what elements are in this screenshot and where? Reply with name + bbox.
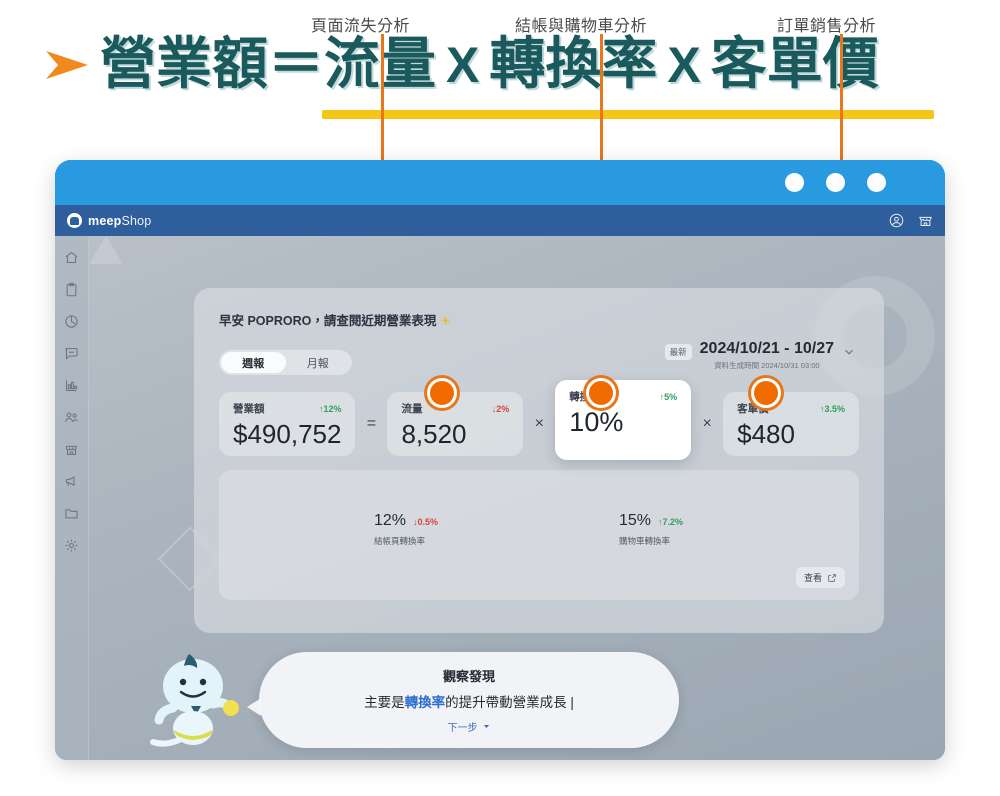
sidebar: [55, 236, 89, 760]
sub-metric-delta-checkout: ↓0.5%: [413, 517, 438, 527]
brand-name-light: Shop: [121, 214, 151, 228]
sub-metric-delta-cart: ↑7.2%: [658, 517, 683, 527]
megaphone-icon[interactable]: [64, 474, 79, 489]
marker-aov[interactable]: [751, 378, 781, 408]
bubble-body: 主要是轉換率的提升帶動營業成長 |: [364, 691, 574, 711]
greeting-message: 早安 POPRORO，請查閱近期營業表現: [219, 314, 436, 328]
brand-name: meepShop: [88, 214, 151, 228]
app-header: meepShop: [55, 205, 945, 236]
chevron-down-icon[interactable]: [842, 345, 856, 359]
next-step-label: 下一步: [448, 719, 478, 734]
home-icon[interactable]: [64, 250, 79, 265]
view-detail-button[interactable]: 查看: [796, 567, 845, 588]
brand-name-bold: meep: [88, 214, 121, 228]
kpi-value-revenue: $490,752: [233, 419, 341, 450]
browser-window: meepShop: [55, 160, 945, 760]
date-range-picker[interactable]: 最新 2024/10/21 - 10/27 資料生成時間 2024/10/31 …: [665, 340, 856, 371]
greeting-text: 早安 POPRORO，請查閱近期營業表現 ☀: [219, 310, 451, 329]
headline-operator-1: X: [440, 36, 485, 94]
arrow-right-icon: [44, 45, 90, 85]
headline-part-conversion: 轉換率: [489, 37, 657, 93]
headline-part-revenue-traffic: 營業額＝流量: [100, 37, 436, 93]
sub-metrics-panel: 12% ↓0.5% 結帳頁轉換率 15% ↑7.2% 購物車轉換率: [219, 470, 859, 600]
tab-weekly-report[interactable]: 週報: [221, 352, 286, 373]
kpi-card-revenue[interactable]: 營業額 ↑12% $490,752: [219, 392, 355, 456]
kpi-value-aov: $480: [737, 419, 845, 450]
kpi-label-revenue: 營業額: [233, 401, 265, 416]
kpi-delta-conversion: ↑5%: [660, 392, 678, 402]
users-icon[interactable]: [64, 410, 79, 425]
header-actions: [889, 213, 933, 228]
next-step-button[interactable]: 下一步: [448, 719, 491, 734]
sub-metric-value-cart: 15%: [619, 512, 651, 530]
sub-metric-checkout: 12% ↓0.5% 結帳頁轉換率: [374, 512, 438, 547]
latest-badge: 最新: [665, 344, 692, 360]
bubble-title: 觀察發現: [443, 666, 495, 685]
store-icon[interactable]: [64, 442, 79, 457]
external-link-icon: [827, 573, 837, 583]
brand-logo[interactable]: meepShop: [67, 213, 151, 228]
data-generated-time: 資料生成時間 2024/10/31 03:00: [714, 360, 819, 371]
screenshot-root: 頁面流失分析 結帳與購物車分析 訂單銷售分析 營業額＝流量 X 轉換率 X 客單…: [0, 0, 1000, 796]
store-icon[interactable]: [918, 213, 933, 228]
kpi-label-traffic: 流量: [401, 401, 422, 416]
window-dot-3[interactable]: [867, 173, 886, 192]
genie-mascot-icon: [149, 646, 245, 750]
view-detail-label: 查看: [804, 571, 822, 584]
chat-icon[interactable]: [64, 346, 79, 361]
kpi-delta-traffic: ↓2%: [492, 404, 510, 414]
kpi-card-aov[interactable]: 客單價 ↑3.5% $480: [723, 392, 859, 456]
headline-formula: 營業額＝流量 X 轉換率 X 客單價: [44, 36, 879, 94]
report-period-toggle[interactable]: 週報 月報: [219, 350, 352, 375]
chevron-down-icon: [482, 722, 491, 731]
chart-bar-icon[interactable]: [64, 378, 79, 393]
kpi-value-conversion: 10%: [569, 407, 677, 438]
sub-metric-cart: 15% ↑7.2% 購物車轉換率: [619, 512, 683, 547]
marker-traffic[interactable]: [427, 378, 457, 408]
marker-conversion[interactable]: [586, 378, 616, 408]
kpi-operator-multiply-1: ×: [523, 415, 555, 433]
kpi-operator-equals: =: [355, 415, 387, 433]
sub-metric-label-checkout: 結帳頁轉換率: [374, 535, 438, 547]
bubble-prefix: 主要是: [364, 695, 405, 710]
kpi-value-traffic: 8,520: [401, 419, 509, 450]
kpi-card-traffic[interactable]: 流量 ↓2% 8,520: [387, 392, 523, 456]
kpi-delta-aov: ↑3.5%: [820, 404, 845, 414]
tab-monthly-report[interactable]: 月報: [286, 352, 351, 373]
clipboard-icon[interactable]: [64, 282, 79, 297]
window-dot-1[interactable]: [785, 173, 804, 192]
sub-metric-value-checkout: 12%: [374, 512, 406, 530]
folder-icon[interactable]: [64, 506, 79, 521]
browser-chrome: [55, 160, 945, 205]
kpi-card-conversion[interactable]: 轉換率 ↑5% 10%: [555, 380, 691, 460]
kpi-operator-multiply-2: ×: [691, 415, 723, 433]
sun-icon: ☀: [440, 314, 451, 328]
sub-metric-label-cart: 購物車轉換率: [619, 535, 683, 547]
bubble-highlight: 轉換率: [405, 695, 446, 710]
package-icon[interactable]: [64, 314, 79, 329]
decorative-triangle: [89, 236, 123, 264]
account-circle-icon[interactable]: [889, 213, 904, 228]
window-dot-2[interactable]: [826, 173, 845, 192]
app-body: 早安 POPRORO，請查閱近期營業表現 ☀ 週報 月報 最新 2024/10/…: [55, 236, 945, 760]
bubble-suffix: 的提升帶動營業成長 |: [445, 695, 574, 710]
gear-icon[interactable]: [64, 538, 79, 553]
assistant-speech-bubble: 觀察發現 主要是轉換率的提升帶動營業成長 | 下一步: [259, 652, 679, 748]
dashboard-content: 早安 POPRORO，請查閱近期營業表現 ☀ 週報 月報 最新 2024/10/…: [89, 236, 945, 760]
kpi-delta-revenue: ↑12%: [319, 404, 342, 414]
meepshop-logo-icon: [67, 213, 82, 228]
date-range-value: 2024/10/21 - 10/27: [700, 340, 834, 358]
dashboard-card: 早安 POPRORO，請查閱近期營業表現 ☀ 週報 月報 最新 2024/10/…: [194, 288, 884, 633]
headline-operator-2: X: [661, 36, 706, 94]
headline-part-aov: 客單價: [711, 37, 879, 93]
